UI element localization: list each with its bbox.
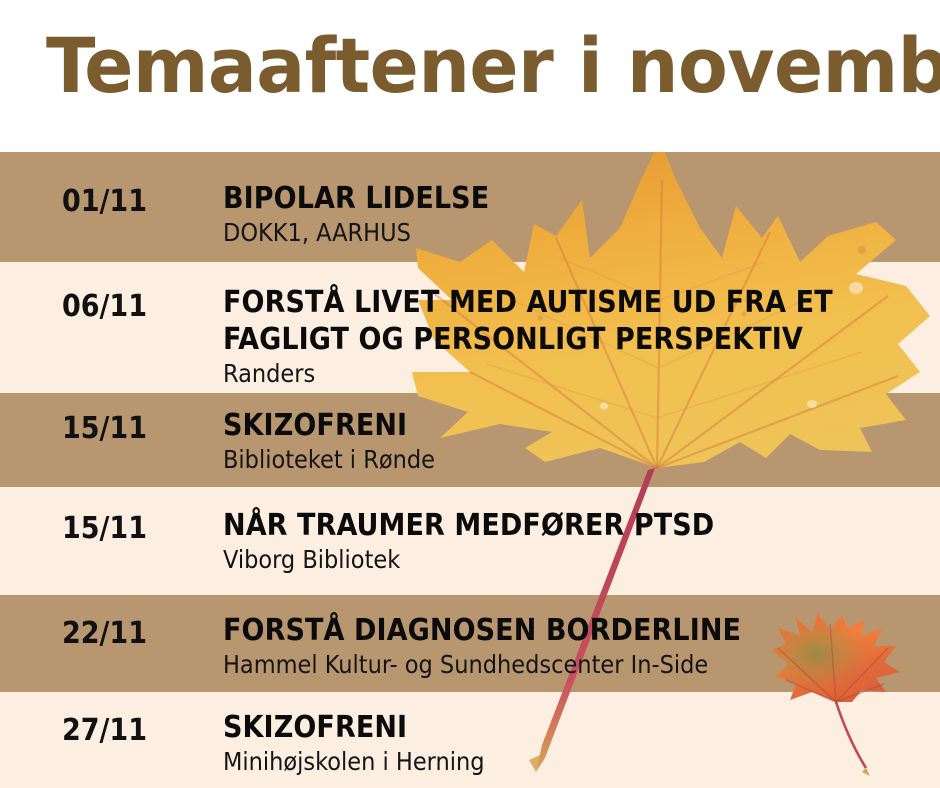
poster-canvas: 01/11 BIPOLAR LIDELSE DOKK1, AARHUS 06/1… [0,0,940,788]
event-date: 06/11 [62,290,147,324]
page-title: Temaaftener i november [46,26,940,106]
event-location: Randers [223,359,940,389]
event-location: DOKK1, AARHUS [223,218,940,248]
event-row[interactable]: 01/11 BIPOLAR LIDELSE DOKK1, AARHUS [0,152,940,262]
event-date: 22/11 [62,617,147,651]
event-row[interactable]: 15/11 NÅR TRAUMER MEDFØRER PTSD Viborg B… [0,487,940,595]
event-title: SKIZOFRENI [223,709,940,746]
event-location: Minihøjskolen i Herning [223,747,940,777]
event-body: FORSTÅ LIVET MED AUTISME UD FRA ET FAGLI… [223,284,940,389]
event-date: 15/11 [62,412,147,446]
event-row[interactable]: 27/11 SKIZOFRENI Minihøjskolen i Herning [0,692,940,788]
event-row[interactable]: 06/11 FORSTÅ LIVET MED AUTISME UD FRA ET… [0,262,940,393]
event-location: Viborg Bibliotek [223,545,940,575]
event-date: 27/11 [62,714,147,748]
event-body: BIPOLAR LIDELSE DOKK1, AARHUS [223,180,940,248]
event-location: Biblioteket i Rønde [223,445,940,475]
event-title: BIPOLAR LIDELSE [223,180,940,217]
event-title: SKIZOFRENI [223,407,940,444]
event-body: SKIZOFRENI Minihøjskolen i Herning [223,709,940,777]
event-body: FORSTÅ DIAGNOSEN BORDERLINE Hammel Kultu… [223,612,940,680]
event-row[interactable]: 22/11 FORSTÅ DIAGNOSEN BORDERLINE Hammel… [0,595,940,692]
event-date: 01/11 [62,185,147,219]
event-body: SKIZOFRENI Biblioteket i Rønde [223,407,940,475]
title-bar: Temaaftener i november [0,0,940,152]
event-title: FORSTÅ DIAGNOSEN BORDERLINE [223,612,940,649]
event-body: NÅR TRAUMER MEDFØRER PTSD Viborg Bibliot… [223,507,940,575]
event-date: 15/11 [62,512,147,546]
event-row[interactable]: 15/11 SKIZOFRENI Biblioteket i Rønde [0,393,940,487]
event-location: Hammel Kultur- og Sundhedscenter In-Side [223,650,940,680]
event-title: FORSTÅ LIVET MED AUTISME UD FRA ET FAGLI… [223,284,883,358]
event-title: NÅR TRAUMER MEDFØRER PTSD [223,507,940,544]
